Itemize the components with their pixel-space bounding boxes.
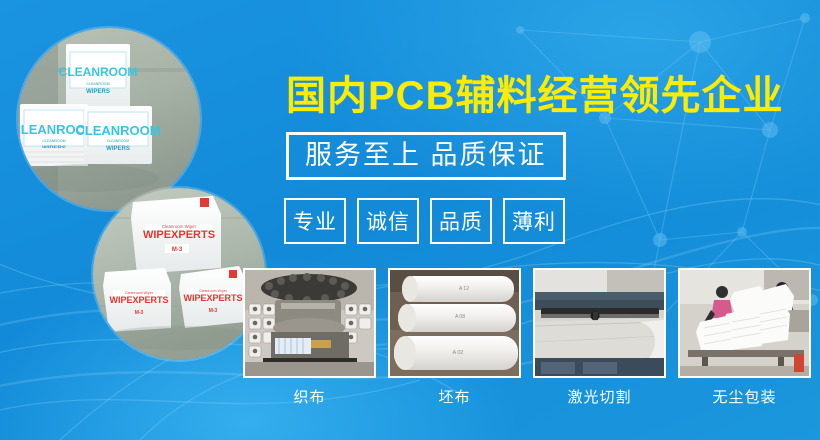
- svg-text:M-3: M-3: [209, 308, 218, 314]
- greige-fabric-rolls-image: A 12 A 08 A 02: [390, 270, 519, 376]
- promo-banner: CLEANROOM CLEANROOM WIPERS CLEANROOM CLE…: [0, 0, 820, 440]
- badge-label: 诚信: [366, 206, 410, 236]
- process-step-caption: 织布: [243, 386, 376, 407]
- banner-title: 国内PCB辅料经营领先企业: [286, 72, 786, 120]
- cleanroom-brand-text: CLEANROOM: [59, 65, 138, 79]
- laser-cutting-machine-photo: [533, 268, 666, 378]
- svg-text:A 12: A 12: [459, 286, 469, 292]
- process-step-caption: 无尘包装: [678, 386, 811, 407]
- svg-text:M-3: M-3: [172, 247, 183, 253]
- greige-fabric-rolls-photo: A 12 A 08 A 02: [388, 268, 521, 378]
- cleanroom-packing-image: [680, 270, 809, 376]
- svg-text:A 02: A 02: [452, 350, 463, 356]
- knitting-machine-image: [245, 270, 374, 376]
- svg-text:M-3: M-3: [135, 310, 144, 316]
- process-step-cleanroom-packing[interactable]: 无尘包装: [678, 268, 811, 407]
- cleanroom-wipes-image: CLEANROOM CLEANROOM WIPERS CLEANROOM CLE…: [18, 28, 200, 210]
- svg-text:WIPEXPERTS: WIPEXPERTS: [109, 295, 168, 305]
- wipexperts-wipes-photo: Cleanroom Wiper WIPEXPERTS M-3 Cleanroom…: [93, 188, 265, 360]
- svg-text:WIPERS: WIPERS: [86, 89, 110, 95]
- svg-text:CLEANROOM: CLEANROOM: [42, 139, 65, 143]
- badge-label: 品质: [439, 206, 483, 236]
- badge-label: 专业: [293, 206, 337, 236]
- subtitle-frame: 服务至上 品质保证: [286, 132, 566, 180]
- banner-subtitle: 服务至上 品质保证: [305, 138, 547, 172]
- laser-cutting-machine-image: [535, 270, 664, 376]
- knitting-machine-photo: [243, 268, 376, 378]
- process-photo-strip: 织布: [243, 268, 812, 407]
- svg-text:CLEANROOM: CLEANROOM: [107, 139, 129, 143]
- svg-text:WIPERS: WIPERS: [106, 146, 130, 152]
- process-step-caption: 坯布: [388, 386, 521, 407]
- svg-text:CLEANROOM: CLEANROOM: [75, 123, 160, 138]
- process-step-caption: 激光切割: [533, 386, 666, 407]
- badge-chengxin[interactable]: 诚信: [357, 198, 419, 244]
- process-step-weaving[interactable]: 织布: [243, 268, 376, 407]
- cleanroom-packing-photo: [678, 268, 811, 378]
- badge-pinzhi[interactable]: 品质: [430, 198, 492, 244]
- wipexperts-brand-text: WIPEXPERTS: [143, 229, 215, 241]
- keyword-badge-list: 专业 诚信 品质 薄利: [284, 198, 565, 244]
- headline-block: 国内PCB辅料经营领先企业 服务至上 品质保证: [286, 72, 786, 180]
- svg-text:A 08: A 08: [455, 314, 465, 320]
- badge-baoli[interactable]: 薄利: [503, 198, 565, 244]
- badge-zhuanye[interactable]: 专业: [284, 198, 346, 244]
- svg-text:CLEANROOM: CLEANROOM: [86, 82, 109, 86]
- process-step-laser-cutting[interactable]: 激光切割: [533, 268, 666, 407]
- process-step-greige-fabric[interactable]: A 12 A 08 A 02 坯布: [388, 268, 521, 407]
- cleanroom-wipes-photo: CLEANROOM CLEANROOM WIPERS CLEANROOM CLE…: [18, 28, 200, 210]
- svg-text:WIPEXPERTS: WIPEXPERTS: [183, 293, 242, 303]
- wipexperts-wipes-image: Cleanroom Wiper WIPEXPERTS M-3 Cleanroom…: [93, 188, 265, 360]
- badge-label: 薄利: [512, 206, 556, 236]
